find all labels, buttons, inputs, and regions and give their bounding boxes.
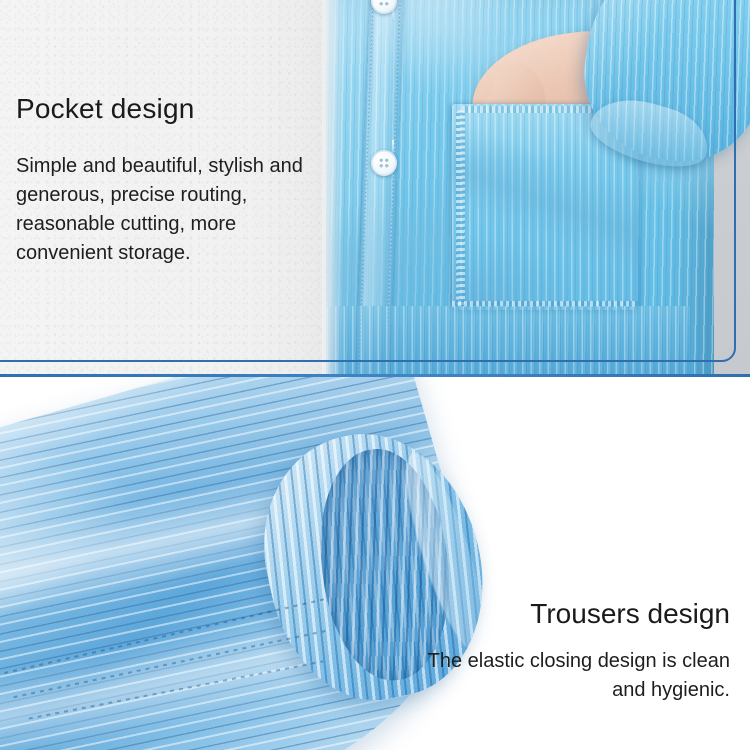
button-thread-lower: [392, 140, 394, 154]
trousers-design-heading: Trousers design: [530, 598, 730, 630]
pocket-design-body-text: Simple and beautiful, stylish and genero…: [16, 152, 326, 268]
panel-trousers-design: Trousers design The elastic closing desi…: [0, 377, 750, 750]
coat-button-lower: [371, 150, 397, 176]
pocket-design-heading: Pocket design: [16, 93, 195, 125]
panel-divider: [0, 374, 750, 377]
coat-hem: [318, 306, 690, 376]
pocket-seam-left: [456, 110, 465, 306]
panel-pocket-design: Pocket design Simple and beautiful, styl…: [0, 0, 750, 376]
coat-hem-stripe-texture: [318, 306, 690, 376]
product-feature-infographic: Pocket design Simple and beautiful, styl…: [0, 0, 750, 750]
trousers-design-body-text: The elastic closing design is clean and …: [400, 647, 730, 705]
